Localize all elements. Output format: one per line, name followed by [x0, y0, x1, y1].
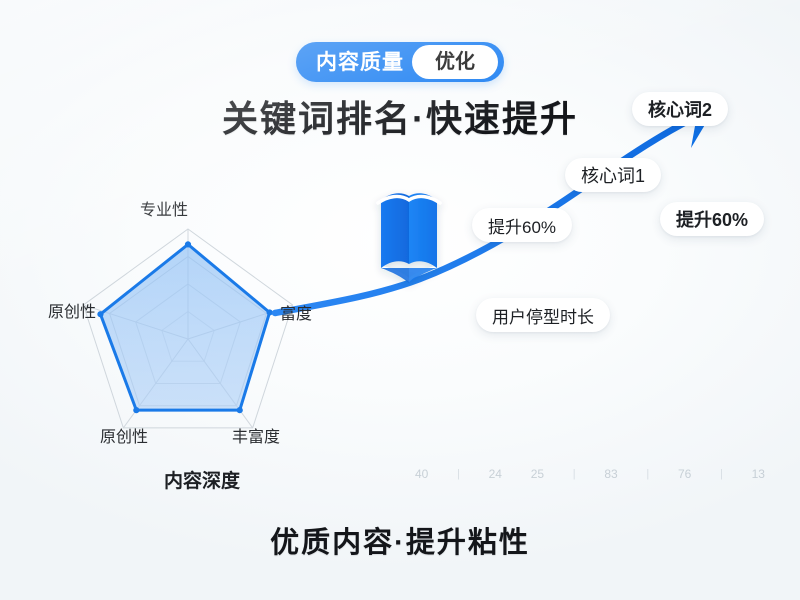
badge-row: 内容质量 优化	[0, 42, 800, 82]
axis-number: 83	[604, 467, 617, 481]
radar-series	[97, 241, 272, 413]
faint-axis-row: 40 | 24 25 | 83 | 76 | 13	[415, 463, 765, 485]
radar-label-top: 专业性	[140, 196, 188, 220]
axis-tick-icon: |	[457, 468, 460, 480]
badge-chip-label: 优化	[412, 45, 498, 79]
poster-canvas: 内容质量 优化 关键词排名·快速提升	[0, 0, 800, 600]
axis-tick-icon: |	[720, 468, 723, 480]
callout-uplift-left[interactable]: 提升60%	[472, 208, 572, 242]
content-quality-badge[interactable]: 内容质量 优化	[296, 42, 504, 82]
axis-number: 40	[415, 467, 428, 481]
axis-tick-icon: |	[573, 468, 576, 480]
axis-number: 25	[531, 467, 544, 481]
open-book-icon	[378, 193, 440, 283]
callout-dwell-time[interactable]: 用户停型时长	[476, 298, 610, 332]
bottom-headline: 优质内容·提升粘性	[0, 519, 800, 561]
radar-grid	[83, 229, 292, 428]
radar-label-bottom-left: 原创性	[100, 423, 148, 447]
radar-label-right: 富度	[280, 300, 312, 324]
axis-number: 13	[752, 467, 765, 481]
axis-tick-icon: |	[646, 468, 649, 480]
radar-label-left: 原创性	[48, 298, 96, 322]
content-depth-label: 内容深度	[164, 466, 240, 493]
radar-points	[97, 241, 272, 413]
axis-number: 24	[489, 467, 502, 481]
axis-number: 76	[678, 467, 691, 481]
callout-keyword2[interactable]: 核心词2	[632, 92, 728, 126]
radar-label-bottom-right: 丰富度	[232, 423, 280, 447]
callout-uplift-right[interactable]: 提升60%	[660, 202, 764, 236]
badge-main-label: 内容质量	[316, 52, 412, 73]
callout-keyword1[interactable]: 核心词1	[565, 158, 661, 192]
